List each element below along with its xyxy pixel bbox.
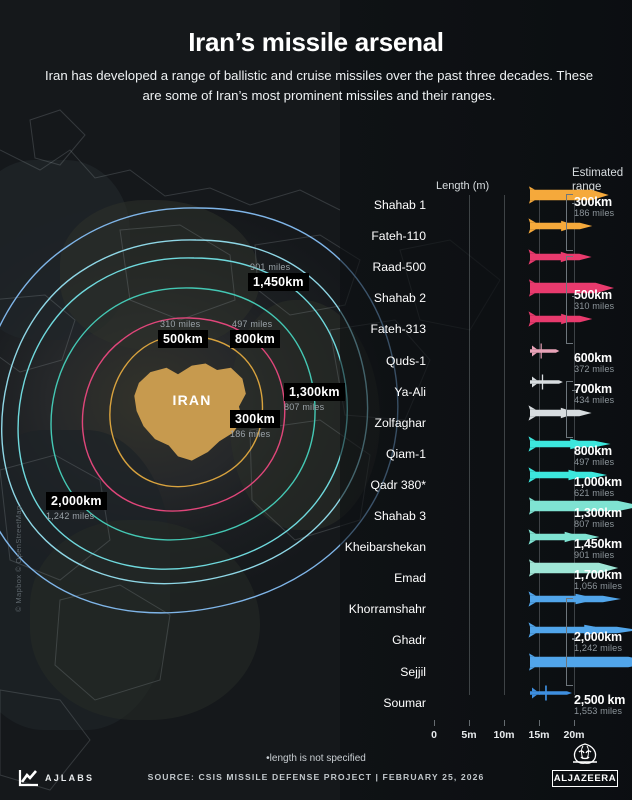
map-callout-km: 500km [158, 330, 208, 348]
missile-silhouette [528, 371, 565, 393]
map-callout-km: 1,300km [284, 383, 345, 401]
map-callout-miles: 497 miles [232, 319, 280, 329]
aljazeera-wordmark: ALJAZEERA [552, 770, 618, 787]
axis-tick-0 [434, 720, 435, 726]
map-attribution: © Mapbox © OpenStreetMap [14, 505, 23, 612]
map-callout-miles: 310 miles [160, 319, 208, 329]
missile-name-label: Shahab 1 [374, 198, 426, 212]
page-subtitle: Iran has developed a range of ballistic … [36, 66, 602, 107]
axis-label-20m: 20m [563, 729, 584, 741]
range-group-tick [572, 390, 576, 391]
map-callout-1300km: 1,300km 807 miles [284, 383, 345, 412]
range-km-value: 700km [574, 382, 612, 396]
missile-name-label: Ya-Ali [394, 385, 426, 399]
map-callout-800km: 497 miles 800km [230, 319, 280, 348]
map-callout-km: 300km [230, 410, 280, 428]
map-callout-miles: 807 miles [284, 402, 345, 412]
map-callout-2000km: 2,000km 1,242 miles [46, 492, 107, 521]
map-callout-miles: 1,242 miles [46, 511, 107, 521]
range-km-value: 1,450km [574, 537, 622, 551]
missile-name-label: Quds-1 [386, 354, 426, 368]
axis-tick-5m [469, 720, 470, 726]
range-header-line1: Estimated [572, 167, 623, 179]
missile-name-label: Sejjil [400, 665, 426, 679]
range-group-tick [572, 296, 576, 297]
missile-name-label: Qiam-1 [386, 447, 426, 461]
range-miles-value: 1,553 miles [574, 706, 622, 716]
axis-label-5m: 5m [461, 729, 476, 741]
axis-tick-20m [574, 720, 575, 726]
missile-silhouette [528, 651, 632, 673]
axis-label-10m: 10m [493, 729, 514, 741]
map-callout-1450km: 901 miles 1,450km [248, 262, 309, 291]
map-callout-km: 2,000km [46, 492, 107, 510]
range-miles-value: 372 miles [574, 364, 614, 374]
range-km-value: 300km [574, 195, 612, 209]
missile-silhouette [528, 215, 594, 237]
range-km-value: 1,700km [574, 568, 622, 582]
page-title: Iran’s missile arsenal [0, 27, 632, 58]
map-callout-miles: 901 miles [250, 262, 309, 272]
axis-tick-15m [539, 720, 540, 726]
missile-name-label: Emad [394, 571, 426, 585]
missile-silhouette [528, 246, 594, 268]
range-km-value: 600km [574, 351, 612, 365]
range-km-value: 2,500 km [574, 693, 625, 707]
missile-name-label: Raad-500 [372, 260, 426, 274]
missile-name-label: Shahab 2 [374, 291, 426, 305]
gridline-5m [469, 195, 470, 695]
missile-name-label: Qadr 380* [370, 478, 426, 492]
missile-silhouette [528, 340, 561, 362]
missile-silhouette [528, 588, 623, 610]
iran-country-label: IRAN [152, 392, 232, 408]
range-km-value: 1,300km [574, 506, 622, 520]
chart-x-axis-title: Length (m) [436, 180, 489, 192]
range-km-value: 500km [574, 288, 612, 302]
range-km-value: 800km [574, 444, 612, 458]
ajlabs-label: AJLABS [45, 773, 94, 783]
footnote: •length is not specified [0, 753, 632, 764]
missile-silhouette [528, 402, 594, 424]
map-callout-miles: 186 miles [230, 429, 280, 439]
missile-name-label: Zolfaghar [375, 416, 427, 430]
axis-label-0: 0 [431, 729, 437, 741]
range-km-value: 1,000km [574, 475, 622, 489]
missile-name-label: Soumar [383, 696, 426, 710]
missile-name-label: Kheibarshekan [345, 540, 426, 554]
map-callout-km: 1,450km [248, 273, 309, 291]
axis-label-15m: 15m [528, 729, 549, 741]
range-group-tick [572, 638, 576, 639]
map-callout-300km: 300km 186 miles [230, 410, 280, 439]
missile-name-label: Shahab 3 [374, 509, 426, 523]
missile-silhouette [528, 308, 594, 330]
range-group-bracket [566, 598, 573, 686]
map-callout-500km: 310 miles 500km [158, 319, 208, 348]
source-line: SOURCE: CSIS MISSILE DEFENSE PROJECT | F… [0, 772, 632, 782]
range-group-tick [572, 203, 576, 204]
range-group-bracket [566, 256, 573, 344]
infographic-root: IRAN 901 miles 1,450km 310 miles 500km 4… [0, 0, 632, 800]
missile-name-label: Ghadr [392, 633, 426, 647]
range-km-value: 2,000km [574, 630, 622, 644]
map-callout-km: 800km [230, 330, 280, 348]
ajlabs-logo: AJLABS [18, 768, 94, 788]
missile-name-label: Fateh-313 [370, 322, 426, 336]
aljazeera-calligraphy-icon [563, 742, 607, 768]
missile-name-label: Khorramshahr [349, 602, 426, 616]
chart-line-icon [18, 768, 40, 788]
missile-name-label: Fateh-110 [371, 229, 426, 243]
aljazeera-logo: ALJAZEERA [552, 742, 618, 787]
gridline-10m [504, 195, 505, 695]
axis-tick-10m [504, 720, 505, 726]
missile-length-chart: Length (m) Estimated range Shahab 1 300k… [340, 150, 632, 710]
